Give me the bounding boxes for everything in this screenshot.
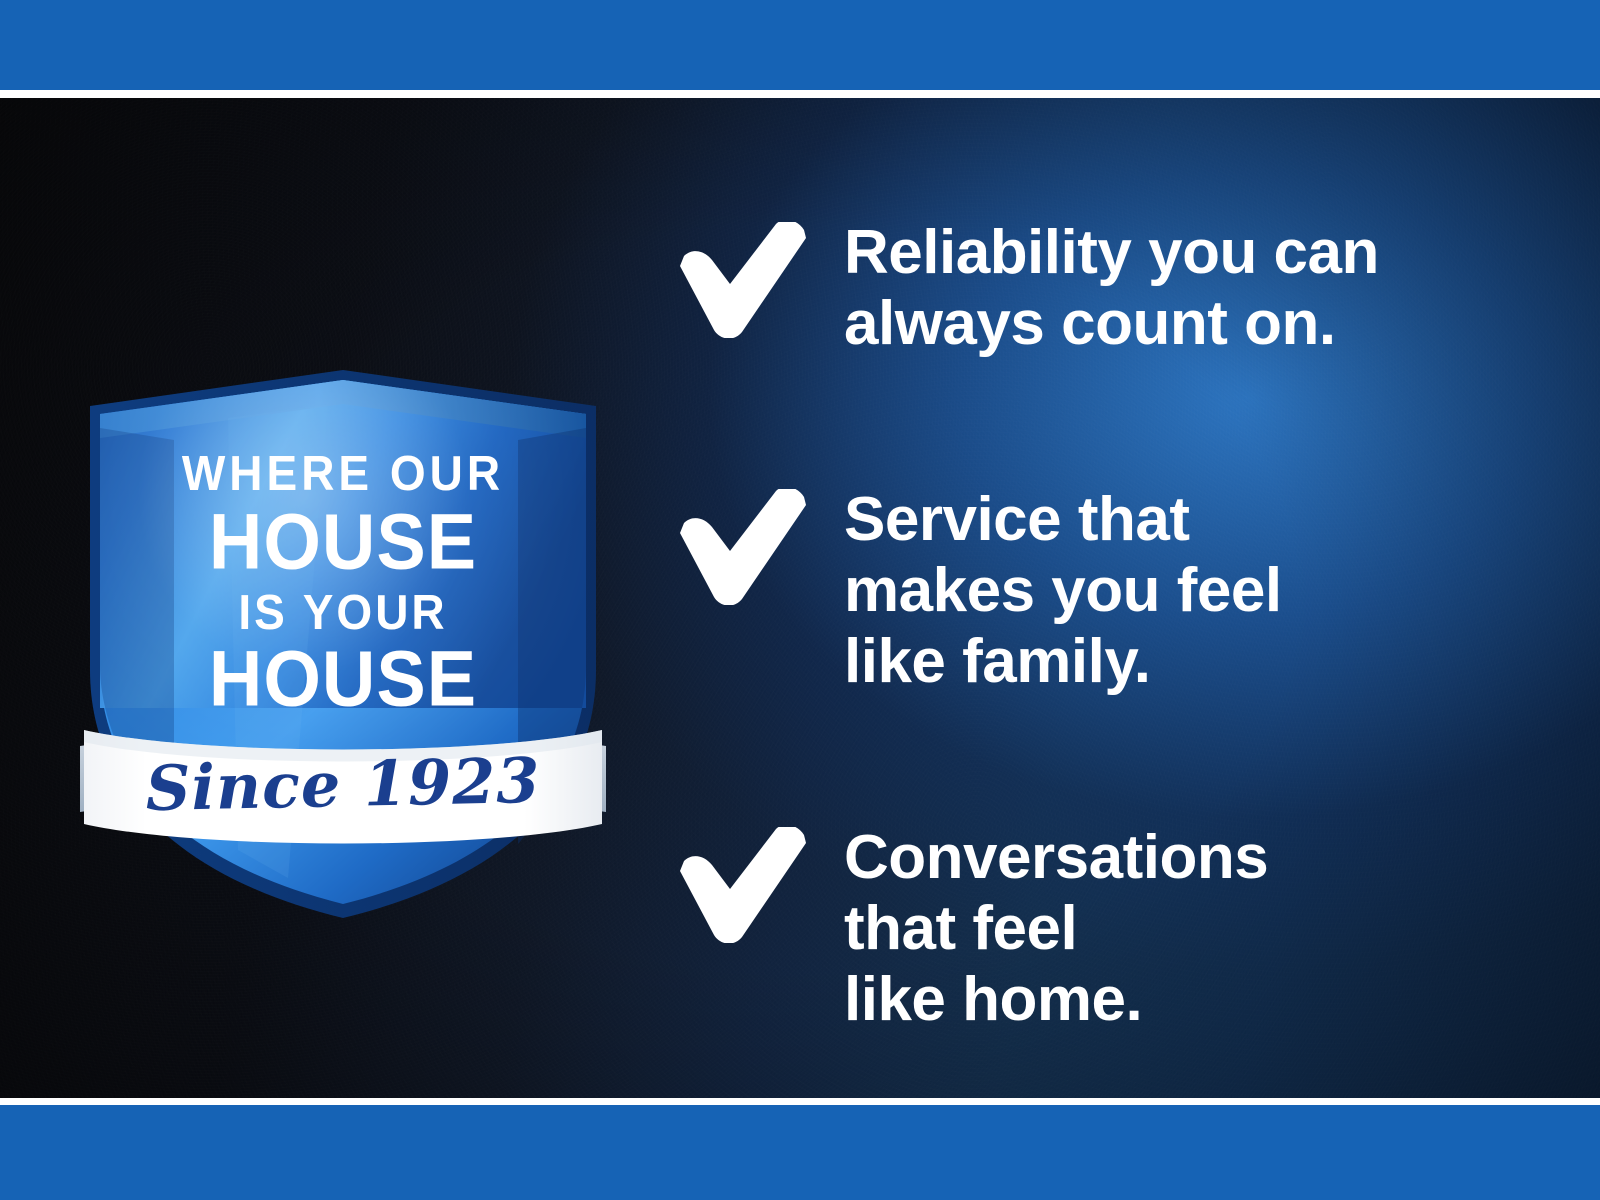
benefit-text: Reliability you can always count on. [844, 218, 1532, 359]
benefit-item: Service that makes you feel like family. [672, 485, 1532, 697]
main-stage: WHERE OUR HOUSE IS YOUR HOUSE Since 1923… [0, 98, 1600, 1098]
benefit-item: Reliability you can always count on. [672, 218, 1532, 359]
check-icon [672, 222, 812, 338]
check-icon [672, 827, 812, 943]
benefit-text: Service that makes you feel like family. [844, 485, 1532, 697]
bottom-brand-bar [0, 1105, 1600, 1200]
shield-emblem: WHERE OUR HOUSE IS YOUR HOUSE Since 1923 [78, 278, 608, 918]
promo-graphic: WHERE OUR HOUSE IS YOUR HOUSE Since 1923… [0, 0, 1600, 1200]
benefit-text: Conversations that feel like home. [844, 823, 1532, 1035]
benefit-item: Conversations that feel like home. [672, 823, 1532, 1035]
top-brand-bar [0, 0, 1600, 90]
benefits-list: Reliability you can always count on. Ser… [672, 218, 1532, 1035]
check-icon [672, 489, 812, 605]
